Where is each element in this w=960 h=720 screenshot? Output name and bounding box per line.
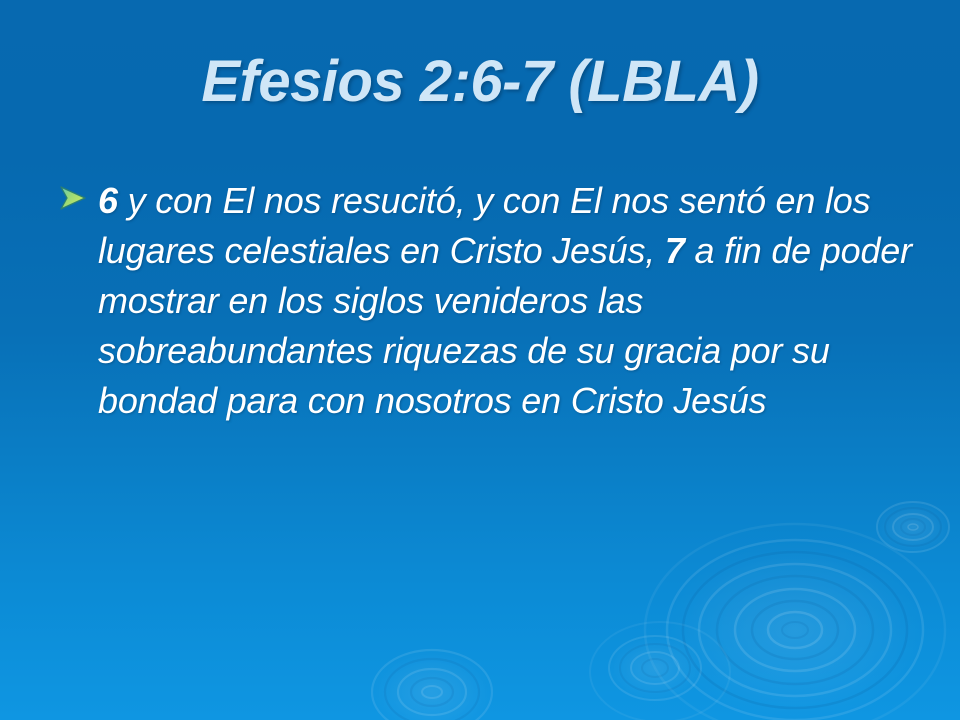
ripple-small-bottom-left <box>370 648 494 720</box>
scripture-text: 6 y con El nos resucitó, y con El nos se… <box>98 176 920 426</box>
ripple-small-bottom-center <box>607 634 703 702</box>
slide-body: 6 y con El nos resucitó, y con El nos se… <box>58 176 920 426</box>
verse-number-7: 7 <box>665 230 685 271</box>
ripple-small-top-right <box>875 500 951 554</box>
ripple-arc-outer <box>590 524 945 720</box>
slide-title-text: Efesios 2:6-7 (LBLA) <box>201 52 758 113</box>
presentation-slide: Efesios 2:6-7 (LBLA) 6 y con El <box>0 0 960 720</box>
slide-title: Efesios 2:6-7 (LBLA) <box>0 52 960 113</box>
ripple-large <box>665 538 925 720</box>
bullet-list-item: 6 y con El nos resucitó, y con El nos se… <box>58 176 920 426</box>
green-arrow-bullet-icon <box>58 184 88 212</box>
verse-number-6: 6 <box>98 180 118 221</box>
